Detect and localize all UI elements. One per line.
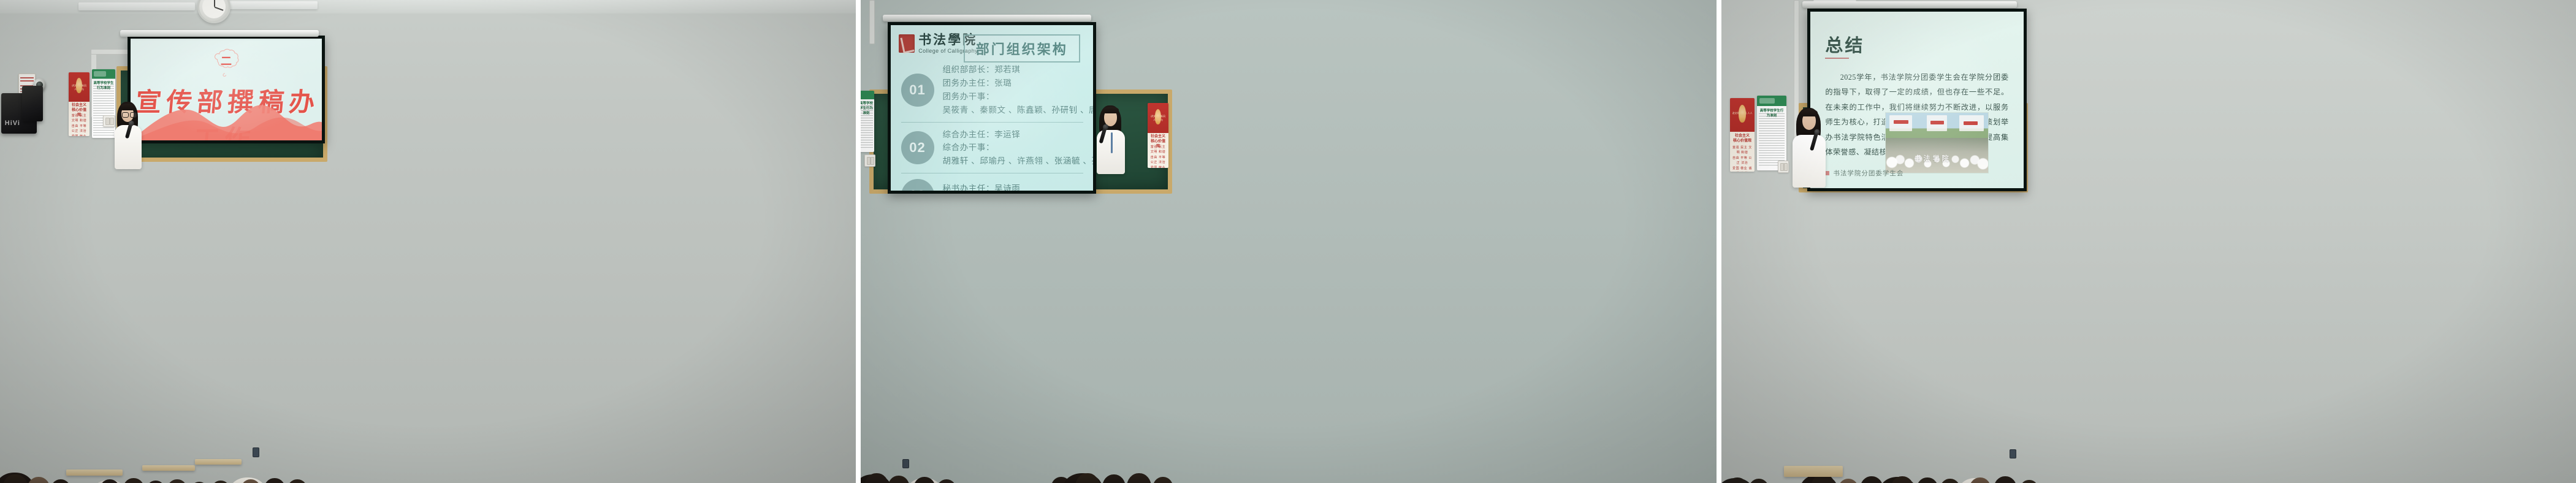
photo-collage: HiVi 讲文明树新风 人人参与 社会主义核心价值观 富强 民主 文明 和谐 自… [0,0,2576,483]
slide-left: 二 宣传部撰稿办工作 [131,39,322,140]
org-number-badge: 03 [901,179,934,191]
audience-member [146,481,166,483]
ceiling-light-panel [78,2,195,10]
projection-screen: 总结 2025学年，书法学院分团委学生会在学院分团委的指导下，取得了一定的成绩，… [1807,9,2027,191]
org-number-badge: 01 [901,74,934,107]
presenter [1791,108,1827,188]
audience-member [1838,479,1859,483]
group-photo: 书法学院 [1885,112,1989,173]
footer-text: 书法学院分团委学生会 [1833,169,1903,178]
slide-right: 总结 2025学年，书法学院分团委学生会在学院分团委的指导下，取得了一定的成绩，… [1810,12,2024,188]
audience [861,352,1717,483]
audience-member [287,479,308,483]
org-line: 胡雅轩 、邱瑜丹 、许燕翎 、张涵毓 、孙莉钧 [943,154,1094,168]
projection-screen: 二 宣传部撰稿办工作 [128,36,325,143]
group-photo-caption: 书法学院 [1915,153,1951,163]
panel-left: HiVi 讲文明树新风 人人参与 社会主义核心价值观 富强 民主 文明 和谐 自… [0,0,856,483]
audience-member [1940,479,1961,483]
audience-member [211,481,231,483]
audience-member [888,476,910,483]
ceiling-light-panel [219,1,318,9]
org-structure-list: 01 组织部部长：郑若琪 团务办主任：张璐 团务办干事： 吴筱青 、秦颢文 、陈… [901,63,1083,179]
presenter [112,102,144,169]
org-line: 综合办干事： [943,141,1094,154]
poster-core-values: 讲文明树新风 人人参与 社会主义核心价值观 富强 民主 文明 和谐 自由 平等 … [1730,98,1755,172]
projector-screen-housing [883,15,1091,21]
seal-icon [899,34,915,53]
audience-member [1102,474,1126,483]
divider [901,122,1083,123]
projection-screen: 书法學院 College of Calligraphy 部门组织架构 01 组织… [888,22,1096,194]
audience-member [1748,479,1769,483]
org-line: 组织部部长：郑若琪 [943,63,1094,77]
cable-conduit [869,0,875,44]
audience-member [27,477,50,483]
panel-middle: 高等学校学生行为准则 讲文明树新风 人人参与 社会主义核心价值观 富强 民主 文… [861,0,1717,483]
projector-screen-housing [1802,1,2017,8]
audience-member [1153,477,1173,483]
desk [66,470,123,476]
smartphone[interactable] [253,447,259,457]
audience-member [50,479,71,483]
brain-cloud-icon: 二 [204,48,248,78]
poster-core-values: 讲文明树新风 人人参与 社会主义核心价值观 富强 民主 文明 和谐 自由 平等 … [69,72,90,136]
audience-member [2019,480,2039,483]
light-switch[interactable] [864,154,875,167]
panel-right: 讲文明树新风 人人参与 社会主义核心价值观 富强 民主 文明 和谐 自由 平等 … [1721,0,2576,483]
speaker-amp [22,86,43,121]
org-line: 吴筱青 、秦颢文 、陈鑫颖、孙研钊 、唐玉粮 、王帅 、蔡思宇 [943,104,1094,117]
poster-student-code: 高等学校学生行为准则 [1757,96,1786,170]
audience-member [913,477,936,483]
slide-number-glyph: 二 [221,55,232,67]
org-line: 综合办主任：李运铎 [943,128,1094,142]
desk [195,459,242,465]
slide-title: 总结 [1825,31,1864,57]
audience-member [1127,473,1151,483]
smartphone[interactable] [902,459,909,468]
org-block: 02 综合办主任：李运铎 综合办干事： 胡雅轩 、邱瑜丹 、许燕翎 、张涵毓 、… [901,128,1083,169]
slide-footer: 书法学院分团委学生会 [1825,169,1903,178]
projector-screen-housing [120,30,319,37]
org-block: 03 秘书办主任：吴诗雨 秘书办干事：王一 、李明哲 、苏歆茹 、姚沈宜佳 [901,179,1083,191]
audience [1721,338,2576,483]
audience-member [264,478,286,483]
audience-member [123,478,145,483]
smartphone[interactable] [2010,449,2016,458]
audience-member [1916,477,1938,483]
title-underline [1825,58,1848,59]
org-line: 团务办主任：张璐 [943,77,1094,90]
audience [0,333,856,483]
decorative-wave [131,96,322,140]
poster-student-code: 高等学校学生行为准则 [861,91,874,152]
poster-core-values: 讲文明树新风 人人参与 社会主义核心价值观 富强 民主 文明 和谐 自由 平等 … [1148,103,1168,168]
audience-member [1994,476,2017,483]
lectern-desk [1784,466,1843,477]
slide-title: 部门组织架构 [964,34,1080,63]
org-line: 团务办干事： [943,90,1094,104]
divider [901,173,1083,173]
desk [142,465,195,471]
org-number-badge: 02 [901,131,934,164]
light-switch[interactable] [1778,161,1789,173]
presenter [1095,105,1127,174]
audience-member [167,479,188,483]
org-line: 秘书办主任：吴诗雨 [943,182,1094,191]
org-block: 01 组织部部长：郑若琪 团务办主任：张璐 团务办干事： 吴筱青 、秦颢文 、陈… [901,63,1083,116]
audience-member [937,479,956,483]
slide-middle: 书法學院 College of Calligraphy 部门组织架构 01 组织… [891,25,1093,191]
audience-member [1860,476,1883,483]
